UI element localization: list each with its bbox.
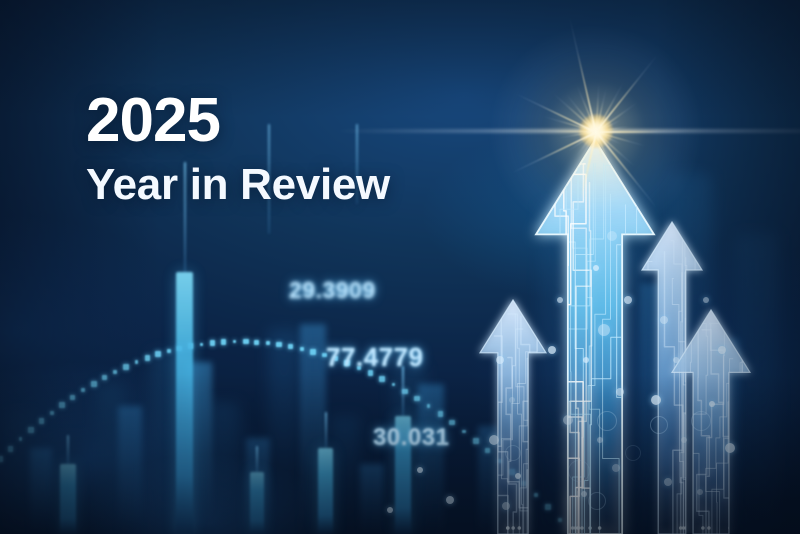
chart-bar: [360, 464, 384, 534]
arc-dot: [545, 504, 551, 510]
overlay-number-2: 77.4779: [326, 342, 423, 373]
particle-dot: [718, 346, 726, 354]
arc-dot: [155, 351, 161, 357]
arc-dot: [102, 375, 106, 379]
particle-dot: [651, 395, 661, 405]
arc-dot: [123, 364, 129, 370]
chart-bar: [30, 448, 52, 534]
arc-dot: [28, 427, 34, 433]
particle-dot: [563, 415, 573, 425]
chart-bar: [246, 438, 270, 534]
page-subtitle: Year in Review: [86, 162, 390, 209]
arc-dot: [8, 446, 13, 451]
particle-dot: [489, 435, 499, 445]
arc-dot: [70, 395, 75, 400]
particle-dot: [624, 296, 632, 304]
arc-dot: [509, 469, 515, 475]
arc-dot: [558, 518, 562, 522]
overlay-number-3: 30.031: [373, 424, 449, 452]
candlestick-wick: [325, 412, 327, 448]
candlestick-body: [176, 272, 193, 534]
chart-bar: [300, 324, 326, 534]
chart-bar: [96, 384, 124, 534]
page-title-year: 2025: [86, 90, 390, 152]
chart-bar: [210, 402, 240, 534]
arc-dot: [233, 340, 236, 343]
arc-dot: [266, 341, 270, 345]
arc-dot: [498, 459, 502, 463]
particle-ring: [505, 445, 521, 461]
chart-bar: [712, 338, 740, 534]
arc-dot: [300, 347, 304, 351]
arc-dot: [188, 343, 194, 349]
particle-dot: [703, 297, 709, 303]
particle-dot: [557, 297, 563, 303]
arc-dot: [402, 389, 407, 394]
chart-bar: [608, 249, 644, 534]
particle-dot: [387, 507, 393, 513]
particle-dot: [709, 401, 715, 407]
particle-dot: [598, 324, 610, 336]
arc-dot: [392, 383, 395, 386]
particle-dot: [446, 496, 454, 504]
particle-ring: [650, 416, 668, 434]
arc-dot: [210, 340, 216, 346]
candlestick-wick: [67, 435, 69, 464]
arc-dot: [485, 448, 490, 453]
particle-dot: [664, 478, 672, 486]
particle-ring: [588, 492, 606, 510]
arc-dot: [473, 438, 479, 444]
chart-bar: [330, 416, 360, 534]
headline-block: 2025 Year in Review: [86, 90, 390, 209]
arc-dot: [177, 346, 182, 351]
arc-dot: [200, 343, 203, 346]
chart-bar: [452, 294, 482, 534]
arc-dot: [427, 404, 430, 407]
arc-dot: [310, 349, 316, 355]
particle-ring: [597, 411, 617, 431]
particle-dot: [581, 491, 587, 497]
candlestick-body: [318, 448, 333, 534]
chart-bar: [268, 329, 300, 534]
arc-dot: [288, 344, 293, 349]
arc-dot: [135, 360, 139, 364]
particle-dot: [509, 397, 515, 403]
candlestick-body: [60, 464, 76, 534]
particle-dot: [681, 437, 687, 443]
arc-dot: [379, 376, 385, 382]
arc-dot: [59, 402, 65, 408]
chart-bar: [52, 438, 82, 534]
particle-dot: [496, 356, 504, 364]
arc-dot: [521, 481, 526, 486]
particle-dot: [597, 437, 603, 443]
particle-ring: [691, 411, 711, 431]
particle-dot: [660, 316, 668, 324]
particle-dot: [612, 464, 620, 472]
particle-dot: [673, 357, 679, 363]
arc-dot: [145, 355, 150, 360]
particle-dot: [616, 388, 624, 396]
candlestick-wick: [402, 366, 404, 416]
particle-dot: [515, 473, 521, 479]
arc-dot: [276, 342, 282, 348]
candlestick-body: [250, 472, 264, 534]
arc-dot: [113, 370, 118, 375]
particle-dot: [593, 265, 599, 271]
particle-dot: [725, 443, 735, 453]
particle-dot: [502, 502, 510, 510]
arc-dot: [243, 339, 249, 345]
arc-dot: [414, 396, 420, 402]
particle-ring: [568, 460, 590, 482]
arc-dot: [39, 418, 44, 423]
starburst-icon: [466, 1, 726, 261]
poster-canvas: 29.3909 77.4779 30.031 2025 Year in Revi…: [0, 0, 800, 534]
arc-dot: [0, 456, 3, 462]
particle-dot: [583, 357, 589, 363]
chart-bar: [186, 362, 212, 534]
arc-dot: [167, 349, 170, 352]
arrow-left-icon: [480, 300, 546, 534]
arc-dot: [438, 411, 444, 417]
arrow-right-tall-icon: [642, 222, 702, 534]
particle-dot: [548, 346, 556, 354]
chart-bar: [118, 406, 142, 534]
candlestick-wick: [256, 446, 258, 472]
arc-dot: [254, 340, 259, 345]
particle-dot: [417, 467, 423, 473]
chart-bar: [150, 352, 184, 534]
particle-ring: [625, 445, 641, 461]
arc-dot: [81, 388, 85, 392]
chart-bar: [736, 234, 778, 534]
arc-dot: [91, 381, 97, 387]
chart-bar: [478, 426, 500, 534]
chart-bar: [8, 414, 34, 534]
overlay-number-1: 29.3909: [289, 277, 376, 304]
arc-dot: [534, 493, 538, 497]
arrow-right-front-icon: [672, 310, 750, 534]
arc-dot: [50, 411, 54, 415]
arc-dot: [221, 339, 226, 344]
starburst-ray: [537, 131, 596, 133]
arc-dot: [449, 420, 454, 425]
chart-bar: [640, 284, 670, 534]
arc-dot: [462, 430, 466, 434]
chart-bar: [418, 384, 444, 534]
arc-dot: [19, 437, 22, 440]
particle-dot: [697, 489, 703, 495]
